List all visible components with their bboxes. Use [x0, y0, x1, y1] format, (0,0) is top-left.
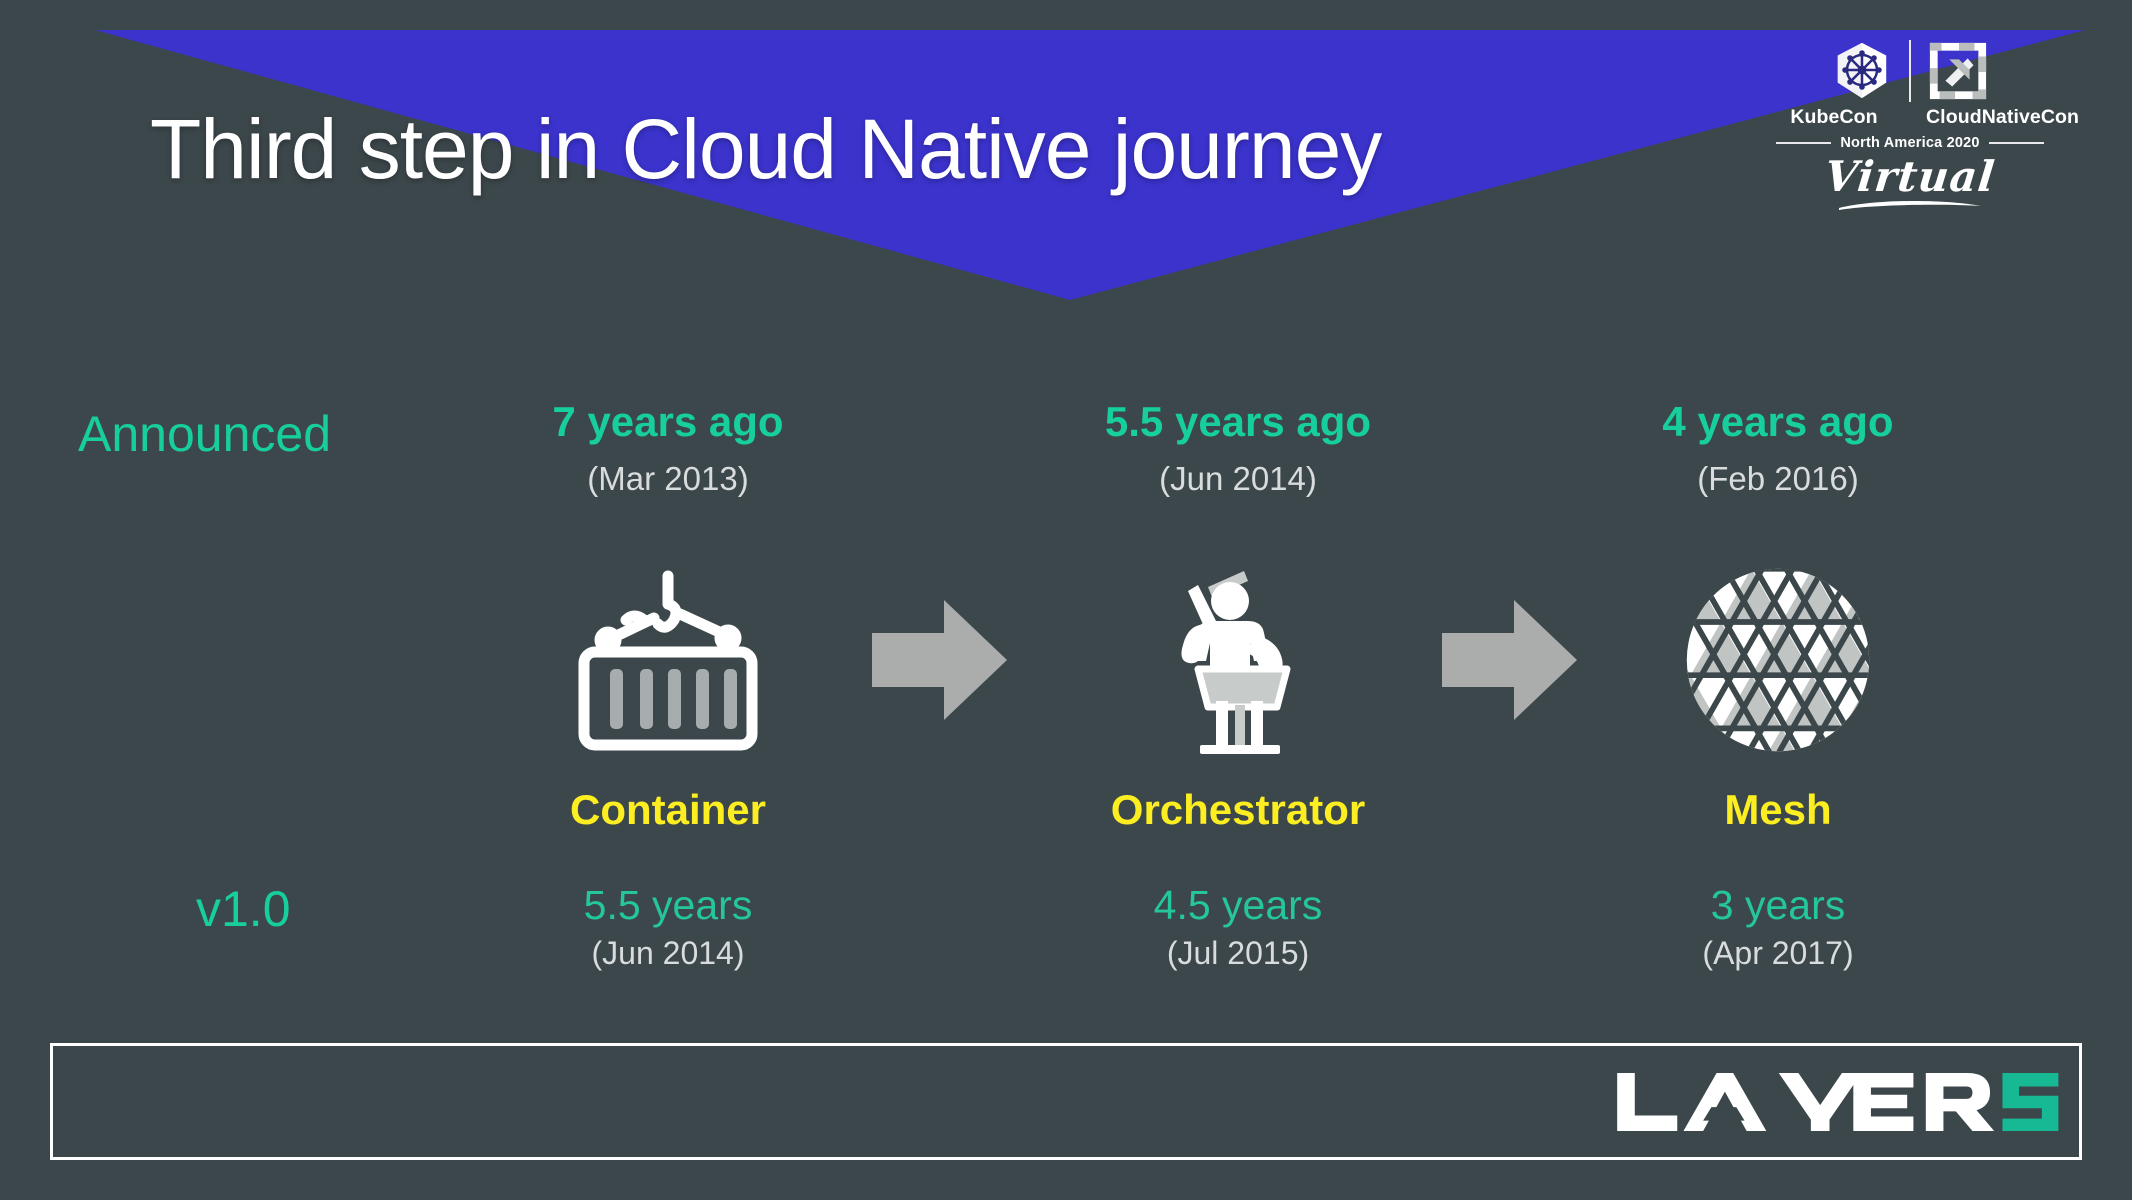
shipping-container-icon [568, 568, 768, 753]
rule-right [1989, 142, 2044, 144]
v1-ago-1: 4.5 years [1028, 882, 1448, 929]
tech-label-2: Mesh [1568, 786, 1988, 834]
icon-slot-2 [1568, 560, 1988, 760]
orchestra-conductor-icon [1156, 565, 1321, 755]
icon-slot-1 [1028, 560, 1448, 760]
v1-ago-0: 5.5 years [458, 882, 878, 929]
service-mesh-circle-icon [1683, 565, 1873, 755]
layer5-logo [1616, 1073, 2072, 1131]
announced-date-0: (Mar 2013) [458, 460, 878, 498]
announced-date-2: (Feb 2016) [1568, 460, 1988, 498]
column-orchestrator: 5.5 years ago (Jun 2014) [1028, 0, 1448, 1040]
v1-date-1: (Jul 2015) [1028, 935, 1448, 972]
tech-label-1: Orchestrator [1028, 786, 1448, 834]
slide-canvas: Third step in Cloud Native journey [0, 0, 2132, 1200]
announced-ago-1: 5.5 years ago [1028, 398, 1448, 446]
v1-date-0: (Jun 2014) [458, 935, 878, 972]
column-container: 7 years ago (Mar 2013) [458, 0, 878, 1040]
announced-ago-0: 7 years ago [458, 398, 878, 446]
row-label-v1: v1.0 [196, 880, 291, 938]
v1-ago-2: 3 years [1568, 882, 1988, 929]
announced-date-1: (Jun 2014) [1028, 460, 1448, 498]
row-label-announced: Announced [78, 405, 331, 463]
v1-date-2: (Apr 2017) [1568, 935, 1988, 972]
right-arrow-icon [1442, 600, 1577, 720]
tech-label-0: Container [458, 786, 878, 834]
icon-slot-0 [458, 560, 878, 760]
column-mesh: 4 years ago (Feb 2016) [1568, 0, 1988, 1040]
announced-ago-2: 4 years ago [1568, 398, 1988, 446]
right-arrow-icon [872, 600, 1007, 720]
